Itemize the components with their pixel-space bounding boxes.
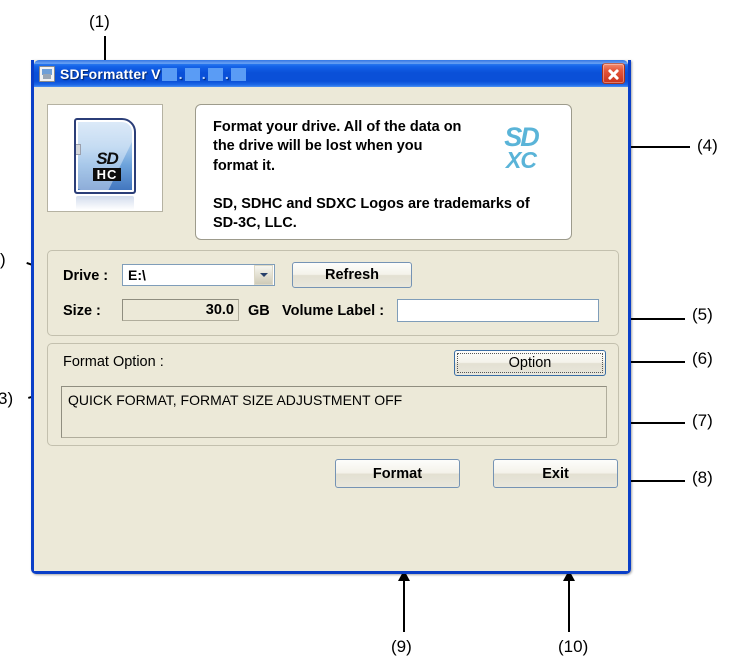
- format-status-box: QUICK FORMAT, FORMAT SIZE ADJUSTMENT OFF: [61, 386, 607, 438]
- app-icon: [39, 66, 55, 82]
- callout-2-label: ): [0, 250, 6, 270]
- drive-label: Drive :: [63, 268, 108, 284]
- window-title: SDFormatter V . . .: [60, 66, 247, 82]
- version-dot-1: .: [178, 66, 184, 82]
- callout-10-label: (10): [558, 637, 588, 657]
- drive-select[interactable]: E:\: [122, 264, 275, 286]
- exit-button[interactable]: Exit: [493, 459, 618, 488]
- sdhc-card-icon: SD HC: [74, 118, 136, 194]
- drive-group: Drive : E:\ Refresh Size : 30.0 GB Volum…: [47, 250, 619, 336]
- sdxc-logo-line2: XC: [506, 150, 536, 171]
- size-unit-label: GB: [248, 303, 270, 319]
- sdhc-logo-sd: SD: [96, 150, 118, 167]
- callout-8-label: (8): [692, 468, 713, 488]
- callout-9-leader: [403, 580, 405, 632]
- version-redaction-3: [208, 68, 223, 81]
- callout-9-label: (9): [391, 637, 412, 657]
- sdxc-logo-icon: SD XC: [484, 123, 558, 173]
- version-dot-2: .: [201, 66, 207, 82]
- callout-7-label: (7): [692, 411, 713, 431]
- sd-card-image-frame: SD HC: [47, 104, 163, 212]
- format-option-label: Format Option :: [63, 354, 164, 370]
- callout-1-label: (1): [89, 12, 110, 32]
- callout-4-label: (4): [697, 136, 718, 156]
- sdhc-logo: SD HC: [85, 150, 129, 180]
- callout-6-label: (6): [692, 349, 713, 369]
- format-button[interactable]: Format: [335, 459, 460, 488]
- volume-label-input[interactable]: [397, 299, 599, 322]
- chevron-down-glyph: [260, 273, 268, 277]
- version-redaction-1: [162, 68, 177, 81]
- format-option-group: Format Option : Option QUICK FORMAT, FOR…: [47, 343, 619, 446]
- callout-5-label: (5): [692, 305, 713, 325]
- version-dot-3: .: [224, 66, 230, 82]
- size-value-field: 30.0: [122, 299, 239, 321]
- refresh-button[interactable]: Refresh: [292, 262, 412, 288]
- sdhc-logo-hc: HC: [93, 168, 122, 181]
- information-panel: Format your drive. All of the data on th…: [195, 104, 572, 240]
- sdformatter-window: SDFormatter V . . . S: [31, 60, 631, 574]
- window-titlebar[interactable]: SDFormatter V . . .: [34, 60, 628, 87]
- card-reflection: [76, 196, 134, 210]
- trademark-text: SD, SDHC and SDXC Logos are trademarks o…: [213, 195, 558, 234]
- drive-select-value: E:\: [123, 267, 254, 283]
- callout-3-label: 3): [0, 389, 13, 409]
- version-redaction-4: [231, 68, 246, 81]
- size-label: Size :: [63, 303, 101, 319]
- window-client-area: SD HC Format your drive. All of the data…: [34, 87, 628, 571]
- volume-label-label: Volume Label :: [282, 303, 384, 319]
- close-icon[interactable]: [602, 63, 625, 84]
- callout-10-leader: [568, 580, 570, 632]
- option-button-label: Option: [509, 355, 552, 371]
- chevron-down-icon[interactable]: [254, 265, 273, 285]
- window-title-text: SDFormatter V: [60, 66, 161, 82]
- version-redaction-2: [185, 68, 200, 81]
- screenshot-root: (1) ) 3) (4) (5) (6) (7) (8) (9): [0, 0, 752, 672]
- option-button[interactable]: Option: [454, 350, 606, 376]
- warning-text: Format your drive. All of the data on th…: [213, 118, 463, 176]
